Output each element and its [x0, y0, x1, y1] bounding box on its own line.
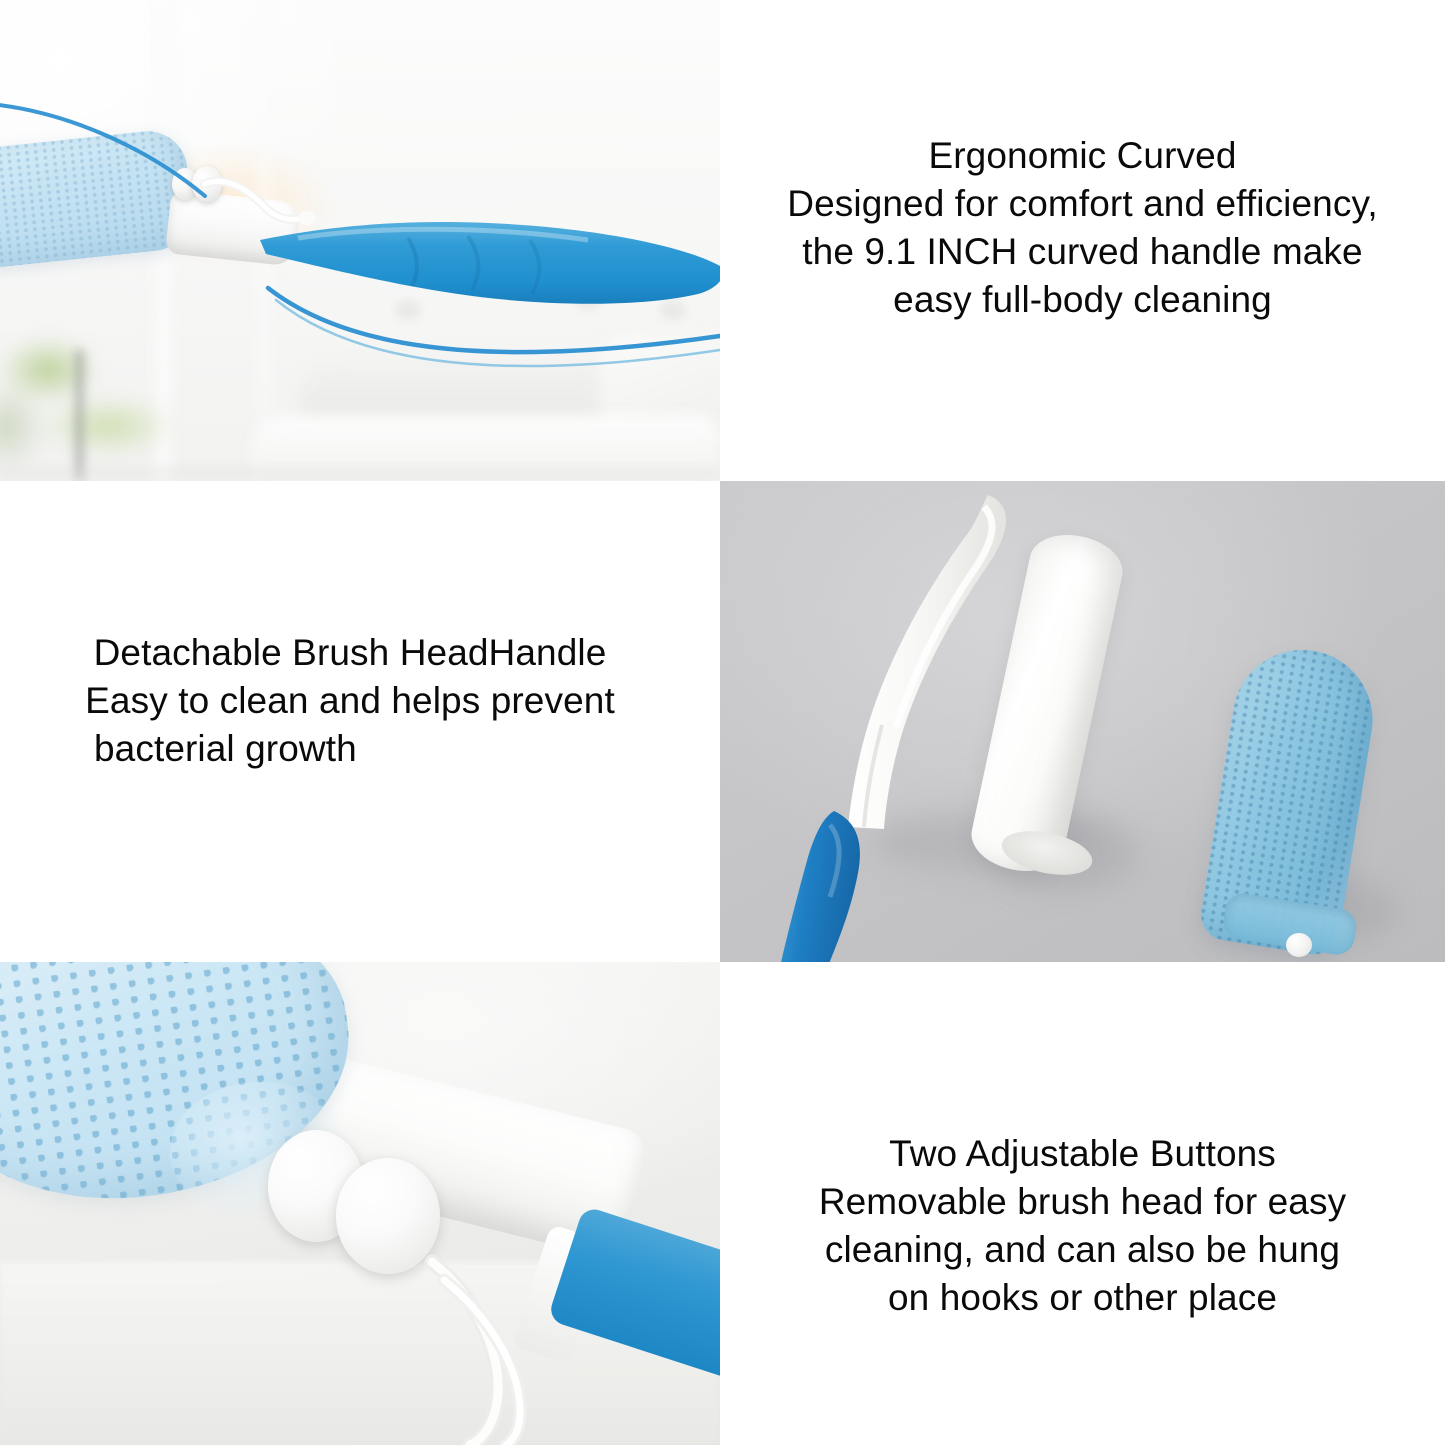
feature-buttons-body: Removable brush head for easy cleaning, …	[720, 1178, 1445, 1322]
product-infographic: Ergonomic Curved Designed for comfort an…	[0, 0, 1445, 1445]
feature-buttons-heading: Two Adjustable Buttons	[720, 1130, 1445, 1178]
feature-detachable-heading: Detachable Brush HeadHandle	[0, 629, 700, 677]
feature-ergonomic-text: Ergonomic Curved Designed for comfort an…	[720, 132, 1445, 324]
feature-buttons-panel: Two Adjustable Buttons Removable brush h…	[720, 962, 1445, 1445]
feature-buttons-text: Two Adjustable Buttons Removable brush h…	[720, 1130, 1445, 1322]
blue-accent-curves	[0, 0, 720, 481]
feature-detachable-body: Easy to clean and helps prevent bacteria…	[0, 677, 700, 773]
mesh-hanging-bead	[1286, 933, 1312, 957]
disassembled-parts-photo	[720, 481, 1445, 962]
feature-ergonomic-body: Designed for comfort and efficiency, the…	[720, 180, 1445, 324]
feature-detachable-text: Detachable Brush HeadHandle Easy to clea…	[0, 629, 700, 773]
hanging-cord-loop	[0, 962, 720, 1445]
hero-product-photo	[0, 0, 720, 481]
feature-detachable-panel: Detachable Brush HeadHandle Easy to clea…	[0, 481, 720, 962]
blue-grip-part	[772, 811, 884, 962]
feature-ergonomic-panel: Ergonomic Curved Designed for comfort an…	[720, 0, 1445, 481]
adjustable-buttons-photo	[0, 962, 720, 1445]
feature-ergonomic-heading: Ergonomic Curved	[720, 132, 1445, 180]
